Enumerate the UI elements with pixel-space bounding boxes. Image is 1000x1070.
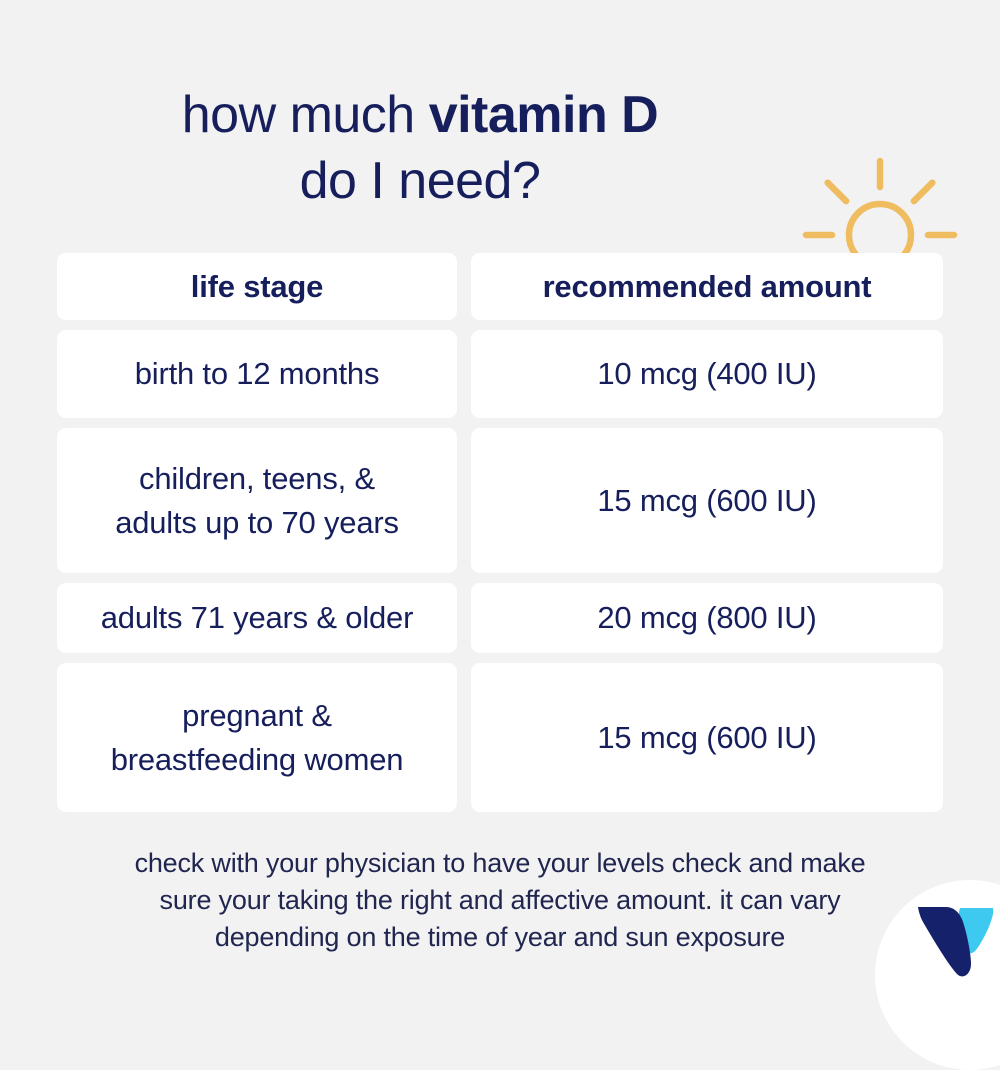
cell-life-stage: pregnant & breastfeeding women — [57, 663, 457, 812]
footer-note: check with your physician to have your l… — [70, 845, 930, 956]
table-row: adults 71 years & older 20 mcg (800 IU) — [57, 583, 943, 653]
table-row: pregnant & breastfeeding women 15 mcg (6… — [57, 663, 943, 812]
table-header-row: life stage recommended amount — [57, 253, 943, 320]
title-line-1: how much vitamin D — [60, 82, 780, 148]
cell-recommended-amount-text: 10 mcg (400 IU) — [597, 352, 816, 396]
cell-text-line: 15 mcg (600 IU) — [597, 483, 816, 518]
cell-text-line: 10 mcg (400 IU) — [597, 356, 816, 391]
vitamin-d-infographic: how much vitamin D do I need? — [0, 0, 1000, 1000]
title-line-1-bold: vitamin D — [429, 86, 659, 144]
cell-text-line: 20 mcg (800 IU) — [597, 600, 816, 635]
cell-life-stage-text: pregnant & breastfeeding women — [111, 694, 404, 782]
v-logo — [913, 902, 999, 982]
page-title: how much vitamin D do I need? — [60, 82, 780, 214]
table-row: birth to 12 months 10 mcg (400 IU) — [57, 330, 943, 418]
cell-recommended-amount: 20 mcg (800 IU) — [471, 583, 943, 653]
title-line-1-prefix: how much — [182, 86, 429, 144]
cell-recommended-amount-text: 20 mcg (800 IU) — [597, 596, 816, 640]
footer-line-1: check with your physician to have your l… — [70, 845, 930, 882]
cell-life-stage-text: adults 71 years & older — [101, 596, 413, 640]
cell-text-line: adults up to 70 years — [115, 501, 399, 545]
header: how much vitamin D do I need? — [0, 82, 1000, 222]
cell-text-line: adults 71 years & older — [101, 600, 413, 635]
table-row: children, teens, & adults up to 70 years… — [57, 428, 943, 573]
cell-life-stage: birth to 12 months — [57, 330, 457, 418]
cell-recommended-amount-text: 15 mcg (600 IU) — [597, 479, 816, 523]
footer-line-2: sure your taking the right and affective… — [70, 882, 930, 919]
column-header-life-stage: life stage — [57, 253, 457, 320]
cell-life-stage-text: children, teens, & adults up to 70 years — [115, 457, 399, 545]
cell-text-line: breastfeeding women — [111, 738, 404, 782]
column-header-recommended-amount: recommended amount — [471, 253, 943, 320]
column-header-life-stage-label: life stage — [191, 269, 323, 305]
cell-text-line: 15 mcg (600 IU) — [597, 720, 816, 755]
cell-recommended-amount: 15 mcg (600 IU) — [471, 428, 943, 573]
cell-life-stage: adults 71 years & older — [57, 583, 457, 653]
title-line-2: do I need? — [60, 148, 780, 214]
cell-life-stage-text: birth to 12 months — [135, 352, 380, 396]
footer-line-3: depending on the time of year and sun ex… — [70, 919, 930, 956]
cell-recommended-amount: 15 mcg (600 IU) — [471, 663, 943, 812]
column-header-recommended-amount-label: recommended amount — [543, 269, 872, 305]
recommendation-table: life stage recommended amount birth to 1… — [57, 253, 943, 822]
cell-text-line: birth to 12 months — [135, 356, 380, 391]
cell-recommended-amount: 10 mcg (400 IU) — [471, 330, 943, 418]
cell-life-stage: children, teens, & adults up to 70 years — [57, 428, 457, 573]
cell-recommended-amount-text: 15 mcg (600 IU) — [597, 716, 816, 760]
cell-text-line: pregnant & — [111, 694, 404, 738]
cell-text-line: children, teens, & — [115, 457, 399, 501]
